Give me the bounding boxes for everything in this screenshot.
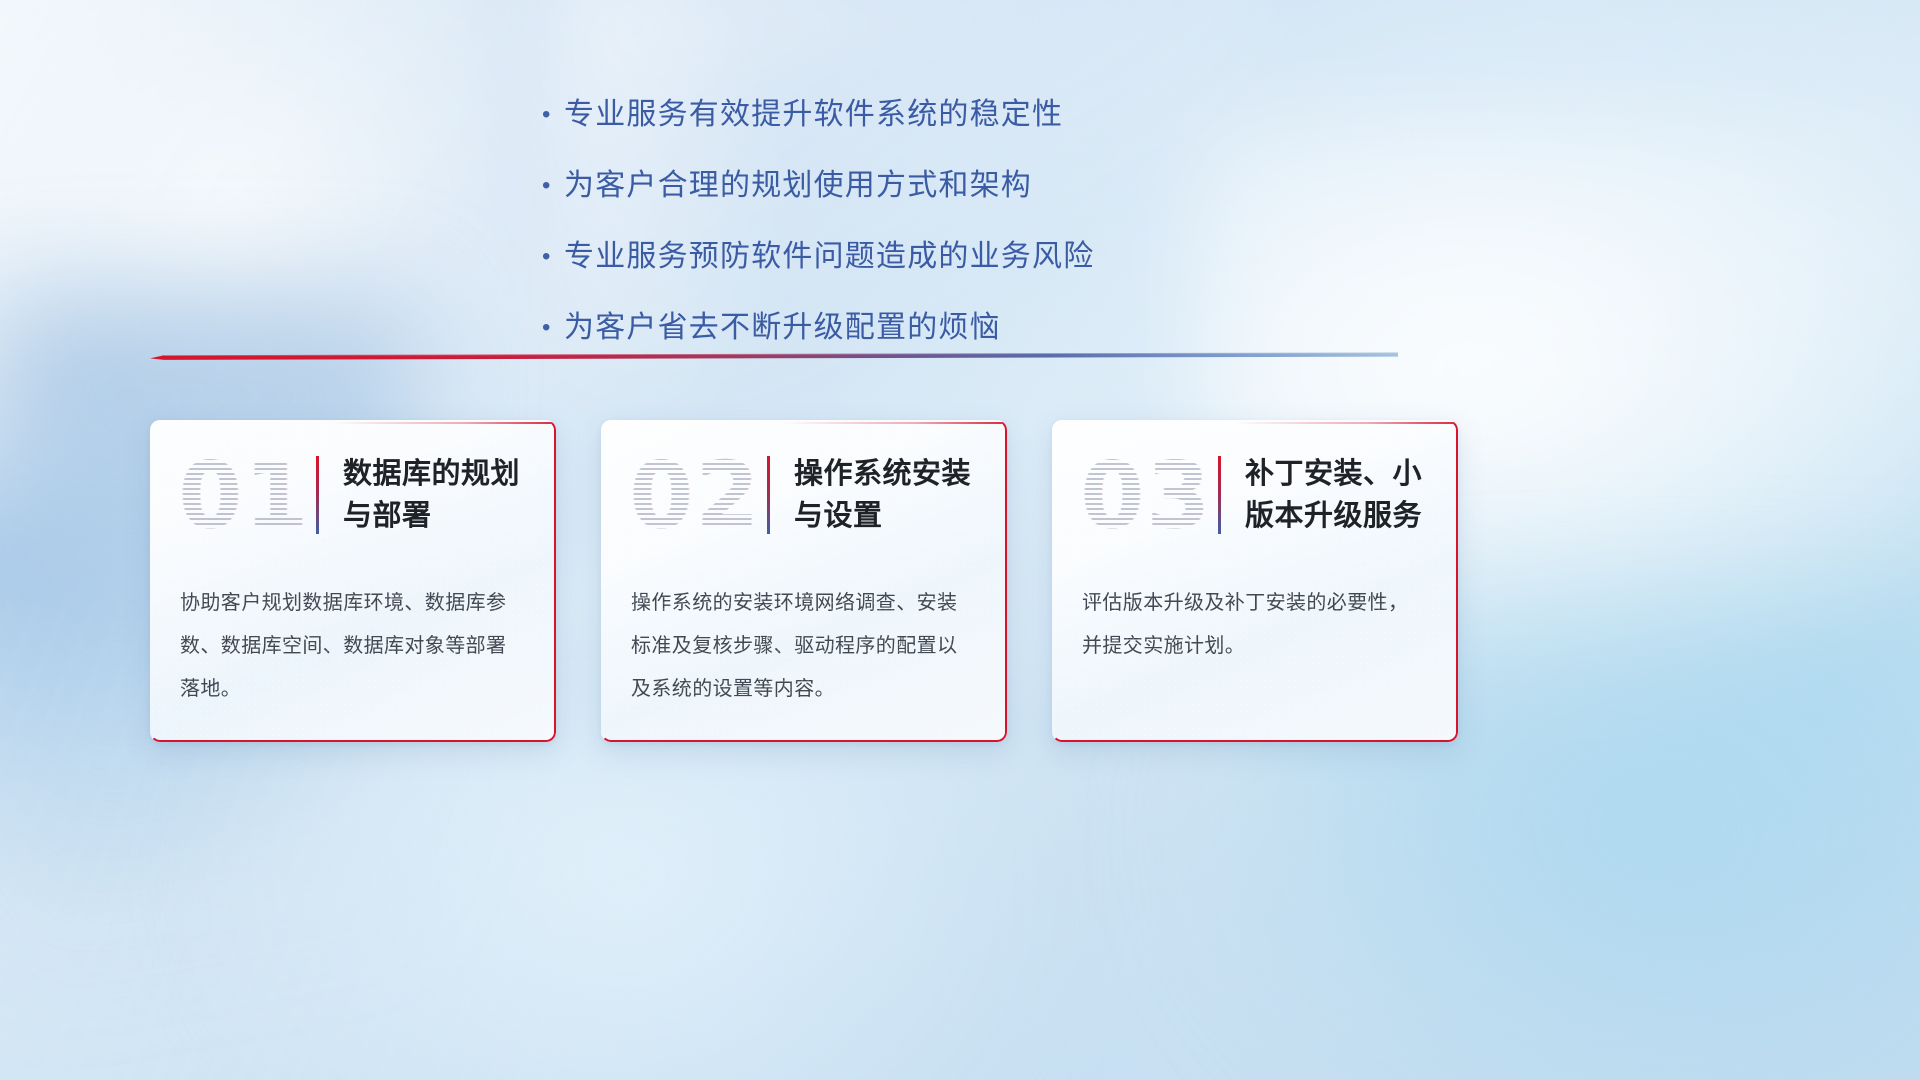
card-accent-rule [316,456,319,534]
card-number-label: 01 [180,443,308,547]
card-accent-rule [767,456,770,534]
benefits-bullet-list: • 专业服务有效提升软件系统的稳定性 • 为客户合理的规划使用方式和架构 • 专… [540,88,1440,372]
bullet-dot-icon: • [540,88,564,142]
card-number-watermark: 01 01 [180,443,308,547]
bullet-dot-icon: • [540,301,564,355]
service-cards: 01 01 数据库的规划与部署 协助客户规划数据库环境、数据库参数、数据库空间、… [150,420,1460,742]
card-title: 操作系统安装与设置 [794,453,981,537]
card-description: 评估版本升级及补丁安装的必要性，并提交实施计划。 [1052,570,1458,668]
card-title: 数据库的规划与部署 [343,453,530,537]
card-title: 补丁安装、小版本升级服务 [1245,453,1432,537]
slide-canvas: • 专业服务有效提升软件系统的稳定性 • 为客户合理的规划使用方式和架构 • 专… [0,0,1920,1080]
card-number-label: 03 [1082,443,1210,547]
list-item: • 为客户合理的规划使用方式和架构 [540,159,1440,213]
card-number-label: 02 [631,443,759,547]
bullet-dot-icon: • [540,159,564,213]
card-header: 02 02 操作系统安装与设置 [601,420,1007,570]
service-card-03[interactable]: 03 03 补丁安装、小版本升级服务 评估版本升级及补丁安装的必要性，并提交实施… [1052,420,1458,742]
card-description: 操作系统的安装环境网络调查、安装标准及复核步骤、驱动程序的配置以及系统的设置等内… [601,570,1007,711]
card-header: 01 01 数据库的规划与部署 [150,420,556,570]
bullet-text: 专业服务预防软件问题造成的业务风险 [564,230,1094,284]
card-header: 03 03 补丁安装、小版本升级服务 [1052,420,1458,570]
bullet-text: 专业服务有效提升软件系统的稳定性 [564,88,1063,142]
service-card-01[interactable]: 01 01 数据库的规划与部署 协助客户规划数据库环境、数据库参数、数据库空间、… [150,420,556,742]
card-number-watermark: 02 02 [631,443,759,547]
bullet-text: 为客户省去不断升级配置的烦恼 [564,301,1001,355]
bullet-text: 为客户合理的规划使用方式和架构 [564,159,1032,213]
list-item: • 专业服务有效提升软件系统的稳定性 [540,88,1440,142]
card-accent-rule [1218,456,1221,534]
card-description: 协助客户规划数据库环境、数据库参数、数据库空间、数据库对象等部署落地。 [150,570,556,711]
bullet-dot-icon: • [540,230,564,284]
service-card-02[interactable]: 02 02 操作系统安装与设置 操作系统的安装环境网络调查、安装标准及复核步骤、… [601,420,1007,742]
card-number-watermark: 03 03 [1082,443,1210,547]
background-light-streak-bottom [180,720,1080,1080]
list-item: • 专业服务预防软件问题造成的业务风险 [540,230,1440,284]
list-item: • 为客户省去不断升级配置的烦恼 [540,301,1440,355]
